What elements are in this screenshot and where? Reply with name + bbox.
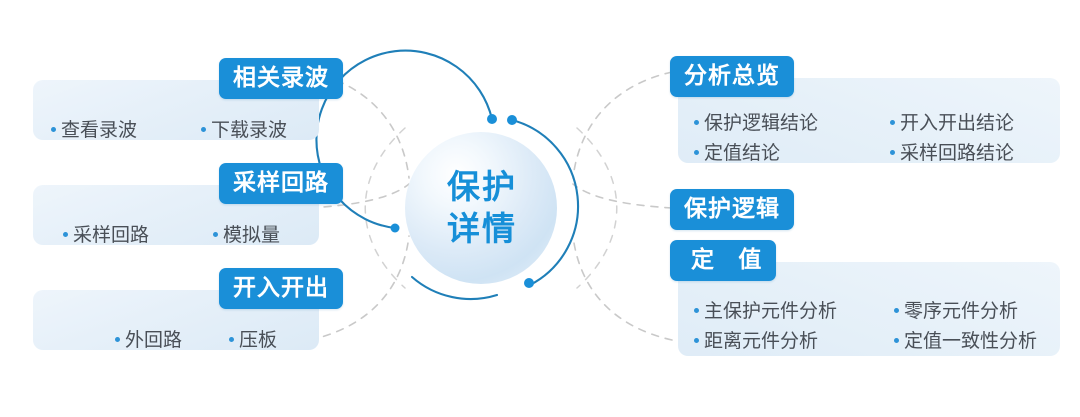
- list-item[interactable]: 下载录波: [201, 121, 287, 140]
- list-item-label: 查看录波: [61, 121, 137, 140]
- bullet-icon: [694, 338, 699, 343]
- list-item-label: 距离元件分析: [704, 332, 818, 351]
- diagram-canvas: 保护 详情 相关录波 查看录波 下载录波 采样回路 采样回路: [0, 0, 1080, 417]
- list-item[interactable]: 压板: [229, 331, 277, 350]
- bullet-icon: [894, 338, 899, 343]
- list-item-label: 定值一致性分析: [904, 332, 1037, 351]
- list-item[interactable]: 距离元件分析: [694, 332, 894, 351]
- bullet-icon: [229, 337, 234, 342]
- group-right-1: 分析总览 保护逻辑结论 开入开出结论 定值结论 采样回路结论: [670, 56, 1060, 171]
- dashed-connector-right-1: [573, 72, 672, 178]
- group-left-3-items: 外回路 压板: [115, 331, 277, 350]
- list-item-label: 模拟量: [223, 226, 280, 245]
- list-item-label: 采样回路结论: [900, 144, 1014, 163]
- list-item-label: 下载录波: [211, 121, 287, 140]
- bullet-icon: [694, 150, 699, 155]
- bullet-icon: [890, 150, 895, 155]
- list-item[interactable]: 零序元件分析: [894, 302, 1037, 321]
- list-item-label: 零序元件分析: [904, 302, 1018, 321]
- dashed-connector-right-3: [573, 236, 672, 340]
- bullet-icon: [213, 232, 218, 237]
- list-item-label: 定值结论: [704, 144, 780, 163]
- dashed-ring-right: [577, 128, 617, 288]
- list-item[interactable]: 定值一致性分析: [894, 332, 1037, 351]
- group-left-3-badge[interactable]: 开入开出: [219, 268, 343, 309]
- group-right-3: 定 值 主保护元件分析 零序元件分析 距离元件分析 定值一致性分析: [670, 240, 1060, 360]
- group-right-1-items: 保护逻辑结论 开入开出结论 定值结论 采样回路结论: [694, 114, 1014, 163]
- list-item[interactable]: 定值结论: [694, 144, 890, 163]
- list-item[interactable]: 主保护元件分析: [694, 302, 894, 321]
- group-left-2-badge[interactable]: 采样回路: [219, 163, 343, 204]
- list-item[interactable]: 查看录波: [51, 121, 201, 140]
- bullet-icon: [694, 308, 699, 313]
- bullet-icon: [694, 120, 699, 125]
- list-item-label: 外回路: [125, 331, 182, 350]
- group-right-1-badge[interactable]: 分析总览: [670, 56, 794, 97]
- group-right-2-badge[interactable]: 保护逻辑: [670, 189, 794, 230]
- bullet-icon: [201, 127, 206, 132]
- list-item-label: 保护逻辑结论: [704, 114, 818, 133]
- group-left-2-items: 采样回路 模拟量: [63, 226, 280, 245]
- bullet-icon: [890, 120, 895, 125]
- list-item[interactable]: 采样回路结论: [890, 144, 1014, 163]
- bullet-icon: [51, 127, 56, 132]
- hub-dot-top-left: [487, 114, 497, 124]
- list-item[interactable]: 采样回路: [63, 226, 213, 245]
- group-left-1-items: 查看录波 下载录波: [51, 121, 287, 140]
- list-item-label: 开入开出结论: [900, 114, 1014, 133]
- list-item[interactable]: 保护逻辑结论: [694, 114, 890, 133]
- list-item-label: 采样回路: [73, 226, 149, 245]
- list-item[interactable]: 模拟量: [213, 226, 280, 245]
- list-item-label: 压板: [239, 331, 277, 350]
- group-right-3-items: 主保护元件分析 零序元件分析 距离元件分析 定值一致性分析: [694, 302, 1037, 351]
- list-item[interactable]: 开入开出结论: [890, 114, 1014, 133]
- group-left-2: 采样回路 采样回路 模拟量: [33, 163, 343, 268]
- list-item[interactable]: 外回路: [115, 331, 229, 350]
- group-left-1: 相关录波 查看录波 下载录波: [33, 58, 343, 163]
- group-right-3-badge[interactable]: 定 值: [670, 240, 776, 281]
- bullet-icon: [63, 232, 68, 237]
- group-right-2: 保护逻辑: [670, 189, 870, 233]
- bullet-icon: [115, 337, 120, 342]
- dashed-connector-right-2: [573, 184, 672, 208]
- hub-label-line1: 保护: [445, 167, 517, 207]
- bullet-icon: [894, 308, 899, 313]
- group-left-1-badge[interactable]: 相关录波: [219, 58, 343, 99]
- list-item-label: 主保护元件分析: [704, 302, 837, 321]
- hub-label-line2: 详情: [445, 209, 517, 249]
- group-left-3: 开入开出 外回路 压板: [33, 268, 343, 373]
- center-hub[interactable]: 保护 详情: [397, 124, 565, 292]
- hub-label: 保护 详情: [397, 124, 565, 292]
